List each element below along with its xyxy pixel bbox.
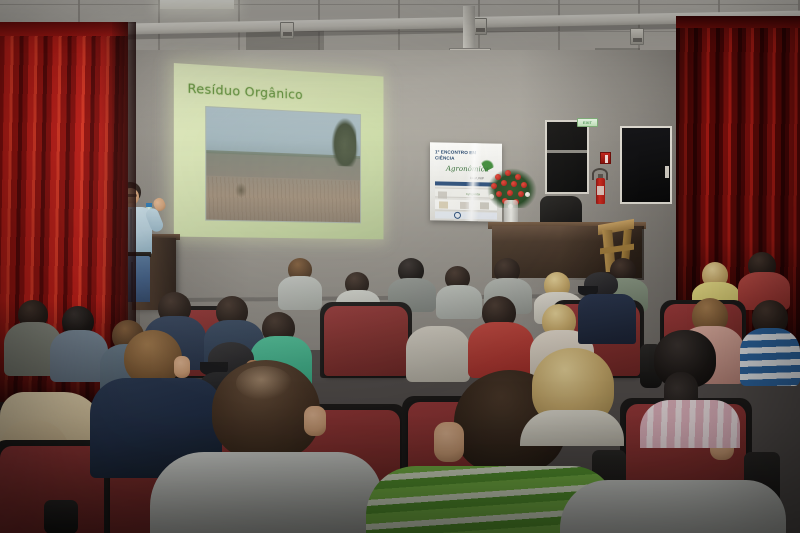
exit-sign-label: EXIT [583,121,592,125]
seat-armrest [44,500,78,533]
window-bar [547,150,587,153]
curtain-valance-left [0,22,128,36]
audience-hair-thinning [236,366,292,400]
photo-tree [344,134,359,163]
audience-torso [520,410,624,446]
audience-person [520,348,630,444]
projector-mount-pole [463,6,475,50]
audience-ear [304,406,326,436]
audience-grey-shirt [150,452,382,533]
audience-person-foreground [150,360,390,533]
audience-plaid-shirt [640,400,740,448]
audience-hand [434,422,464,462]
photo-stubble [206,177,360,223]
institution-logo [454,212,461,219]
fire-extinguisher-label [597,186,604,195]
auditorium-photo: Resíduo Orgânico EXIT 1º ENCONTRO EM CIÊ… [0,0,800,533]
dark-doorway [620,126,672,204]
ceiling-speaker-icon [473,18,487,35]
projection-screen: Resíduo Orgânico [174,63,384,239]
fire-alarm-box-icon[interactable] [600,152,611,164]
ceiling-light [160,0,234,9]
audience-cap-person [578,272,640,342]
curtain-valance-right [676,16,800,28]
door-handle[interactable] [665,166,669,178]
photo-bush [235,182,247,198]
audience-light-shirt [560,480,786,533]
audience-torso [578,294,636,344]
audience-torso [278,276,322,310]
dark-window [545,120,589,194]
exit-sign-icon: EXIT [577,118,598,127]
audience-person [636,330,746,450]
slide-photo [205,106,361,223]
sponsor-logo [439,201,448,208]
ceiling-speaker-icon [630,28,644,45]
ceiling-speaker-icon [280,22,294,39]
sponsor-logo [438,191,447,198]
